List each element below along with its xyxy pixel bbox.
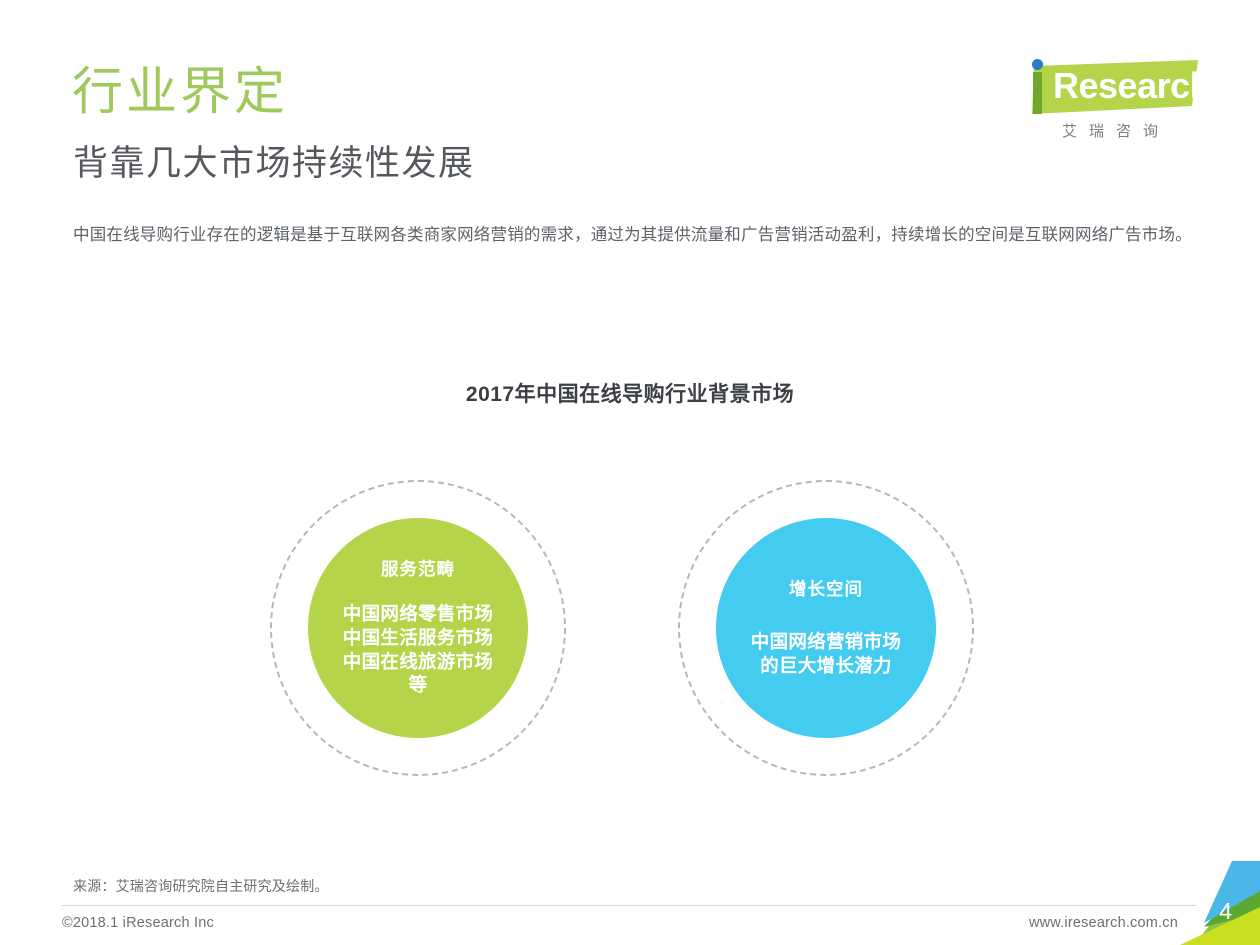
intro-paragraph: 中国在线导购行业存在的逻辑是基于互联网各类商家网络营销的需求，通过为其提供流量和… (73, 220, 1193, 251)
logo-i-dot-icon (1032, 59, 1043, 70)
logo-wordmark: Research (1053, 68, 1211, 104)
page-subtitle: 背靠几大市场持续性发展 (73, 143, 475, 185)
bubble-heading-growth-space: 增长空间 (789, 579, 863, 600)
slide-page: 行业界定 背靠几大市场持续性发展 中国在线导购行业存在的逻辑是基于互联网各类商家… (0, 0, 1260, 945)
bubble-heading-service-scope: 服务范畴 (381, 559, 455, 580)
footer-divider (62, 905, 1196, 906)
bubble-core-green: 服务范畴 中国网络零售市场 中国生活服务市场 中国在线旅游市场 等 (308, 518, 528, 738)
logo-chinese-name: 艾瑞咨询 (1034, 120, 1198, 141)
bubble-service-scope: 服务范畴 中国网络零售市场 中国生活服务市场 中国在线旅游市场 等 (270, 480, 570, 780)
logo-mark: Research (1020, 58, 1198, 116)
logo-i-stem-icon (1033, 72, 1042, 114)
bubble-core-blue: 增长空间 中国网络营销市场 的巨大增长潜力 (716, 518, 936, 738)
bubble-growth-space: 增长空间 中国网络营销市场 的巨大增长潜力 (678, 480, 978, 780)
iresearch-logo: Research 艾瑞咨询 (1020, 58, 1200, 150)
bubble-diagram: 服务范畴 中国网络零售市场 中国生活服务市场 中国在线旅游市场 等 增长空间 中… (0, 455, 1260, 815)
website-url[interactable]: www.iresearch.com.cn (1029, 915, 1178, 931)
corner-decoration (1164, 861, 1260, 945)
page-number: 4 (1219, 900, 1232, 923)
figure-title: 2017年中国在线导购行业背景市场 (0, 378, 1260, 408)
corner-decoration-shape (1164, 861, 1260, 945)
bubble-body-growth-space: 中国网络营销市场 的巨大增长潜力 (751, 630, 901, 677)
bubble-body-service-scope: 中国网络零售市场 中国生活服务市场 中国在线旅游市场 等 (343, 602, 493, 697)
source-note: 来源：艾瑞咨询研究院自主研究及绘制。 (73, 876, 329, 896)
page-title: 行业界定 (72, 64, 288, 119)
copyright-text: ©2018.1 iResearch Inc (62, 915, 214, 931)
